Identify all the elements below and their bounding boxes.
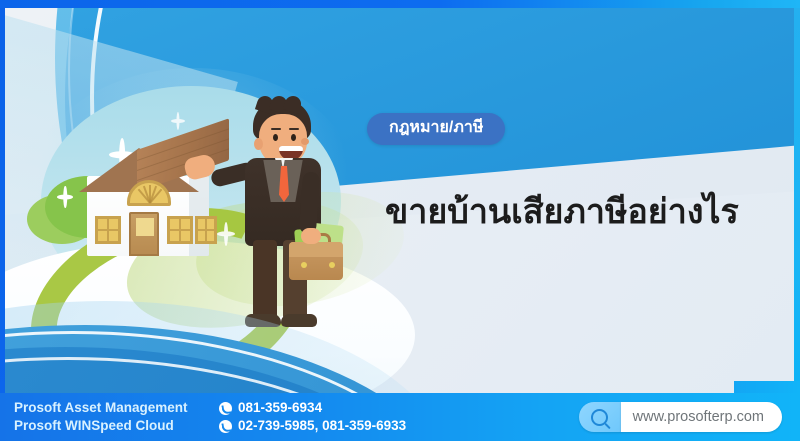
house-illustration	[77, 136, 217, 256]
frame-left-edge	[0, 0, 5, 441]
promo-banner: กฎหมาย/ภาษี ขายบ้านเสียภาษีอย่างไร Proso…	[0, 0, 800, 441]
briefcase-latch	[301, 262, 307, 268]
contact-name: Prosoft WINSpeed Cloud	[14, 417, 219, 435]
search-button[interactable]	[579, 402, 621, 432]
person-eyebrow	[289, 128, 299, 130]
person-eye	[273, 134, 278, 141]
door-glass	[136, 218, 154, 236]
sparkle-icon	[57, 186, 73, 208]
category-badge[interactable]: กฎหมาย/ภาษี	[367, 113, 505, 145]
house-door	[129, 212, 159, 256]
search-icon	[591, 409, 608, 426]
banner-canvas: กฎหมาย/ภาษี ขายบ้านเสียภาษีอย่างไร	[5, 8, 795, 441]
website-url[interactable]: www.prosofterp.com	[621, 402, 782, 432]
footer-notch	[734, 381, 800, 393]
frame-top-edge	[0, 0, 800, 8]
person-hand	[301, 228, 321, 244]
footer-bar: Prosoft Asset Management 081-359-6934 Pr…	[0, 393, 800, 441]
contact-row: Prosoft WINSpeed Cloud 02-739-5985, 081-…	[14, 417, 406, 435]
person-eyebrow	[271, 128, 281, 130]
contact-phone[interactable]: 02-739-5985, 081-359-6933	[238, 417, 406, 435]
contact-list: Prosoft Asset Management 081-359-6934 Pr…	[14, 399, 406, 435]
house-window	[195, 216, 217, 244]
person-eye	[291, 134, 296, 141]
website-pill[interactable]: www.prosofterp.com	[579, 402, 782, 432]
contact-name: Prosoft Asset Management	[14, 399, 219, 417]
phone-icon	[219, 420, 232, 433]
person-nose	[301, 138, 309, 145]
contact-row: Prosoft Asset Management 081-359-6934	[14, 399, 406, 417]
frame-right-edge	[794, 0, 800, 441]
person-ear	[254, 138, 263, 150]
briefcase-flap	[289, 242, 343, 257]
phone-icon	[219, 402, 232, 415]
page-title: ขายบ้านเสียภาษีอย่างไร	[385, 191, 739, 234]
house-window	[95, 216, 121, 244]
house-window	[167, 216, 193, 244]
briefcase-latch	[329, 262, 335, 268]
contact-phone[interactable]: 081-359-6934	[238, 399, 322, 417]
sparkle-icon	[171, 112, 185, 130]
